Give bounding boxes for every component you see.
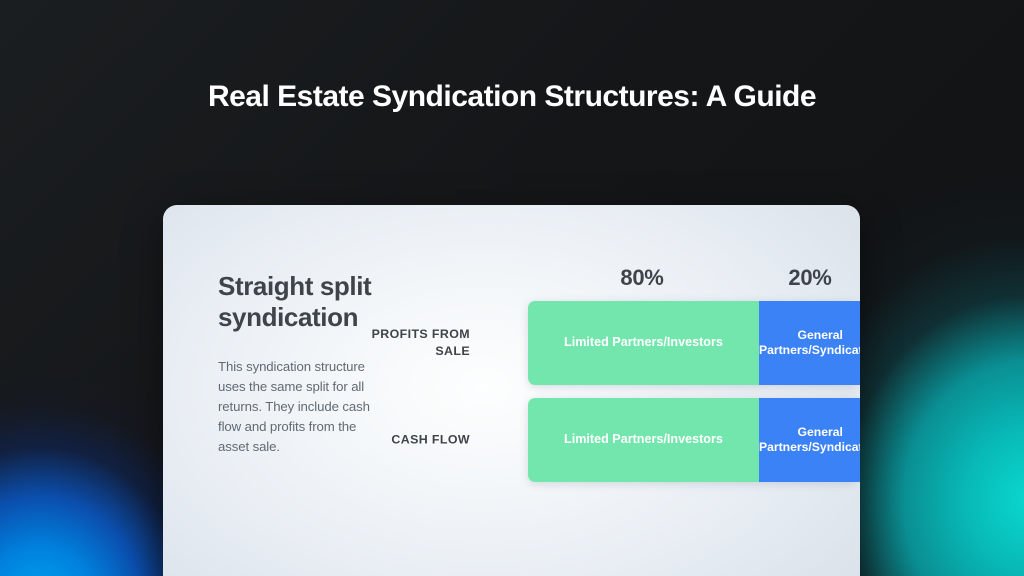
page-title: Real Estate Syndication Structures: A Gu… (0, 80, 1024, 114)
split-chart: 80% 20% PROFITS FROM SALE Limited Partne… (391, 265, 811, 495)
row-label-profits-from-sale: PROFITS FROM SALE (350, 326, 470, 360)
bar-segment-general-partners: General Partners/Syndicators (759, 301, 860, 385)
row-label-cash-flow: CASH FLOW (350, 431, 470, 448)
bar-segment-limited-partners: Limited Partners/Investors (528, 398, 759, 482)
card-heading: Straight split syndication (218, 271, 378, 333)
stacked-bar-profits-from-sale: Limited Partners/Investors General Partn… (528, 301, 857, 385)
bar-segment-general-partners: General Partners/Syndicators (759, 398, 860, 482)
infographic-card: Straight split syndication This syndicat… (163, 205, 860, 576)
percent-label-gp: 20% (788, 265, 831, 291)
bar-row-cash-flow: CASH FLOW Limited Partners/Investors Gen… (391, 398, 811, 482)
stacked-bar-cash-flow: Limited Partners/Investors General Partn… (528, 398, 857, 482)
percent-header-row: 80% 20% (391, 265, 811, 301)
card-text-column: Straight split syndication This syndicat… (218, 271, 378, 457)
bar-row-profits-from-sale: PROFITS FROM SALE Limited Partners/Inves… (391, 301, 811, 385)
percent-label-lp: 80% (620, 265, 663, 291)
bar-segment-limited-partners: Limited Partners/Investors (528, 301, 759, 385)
